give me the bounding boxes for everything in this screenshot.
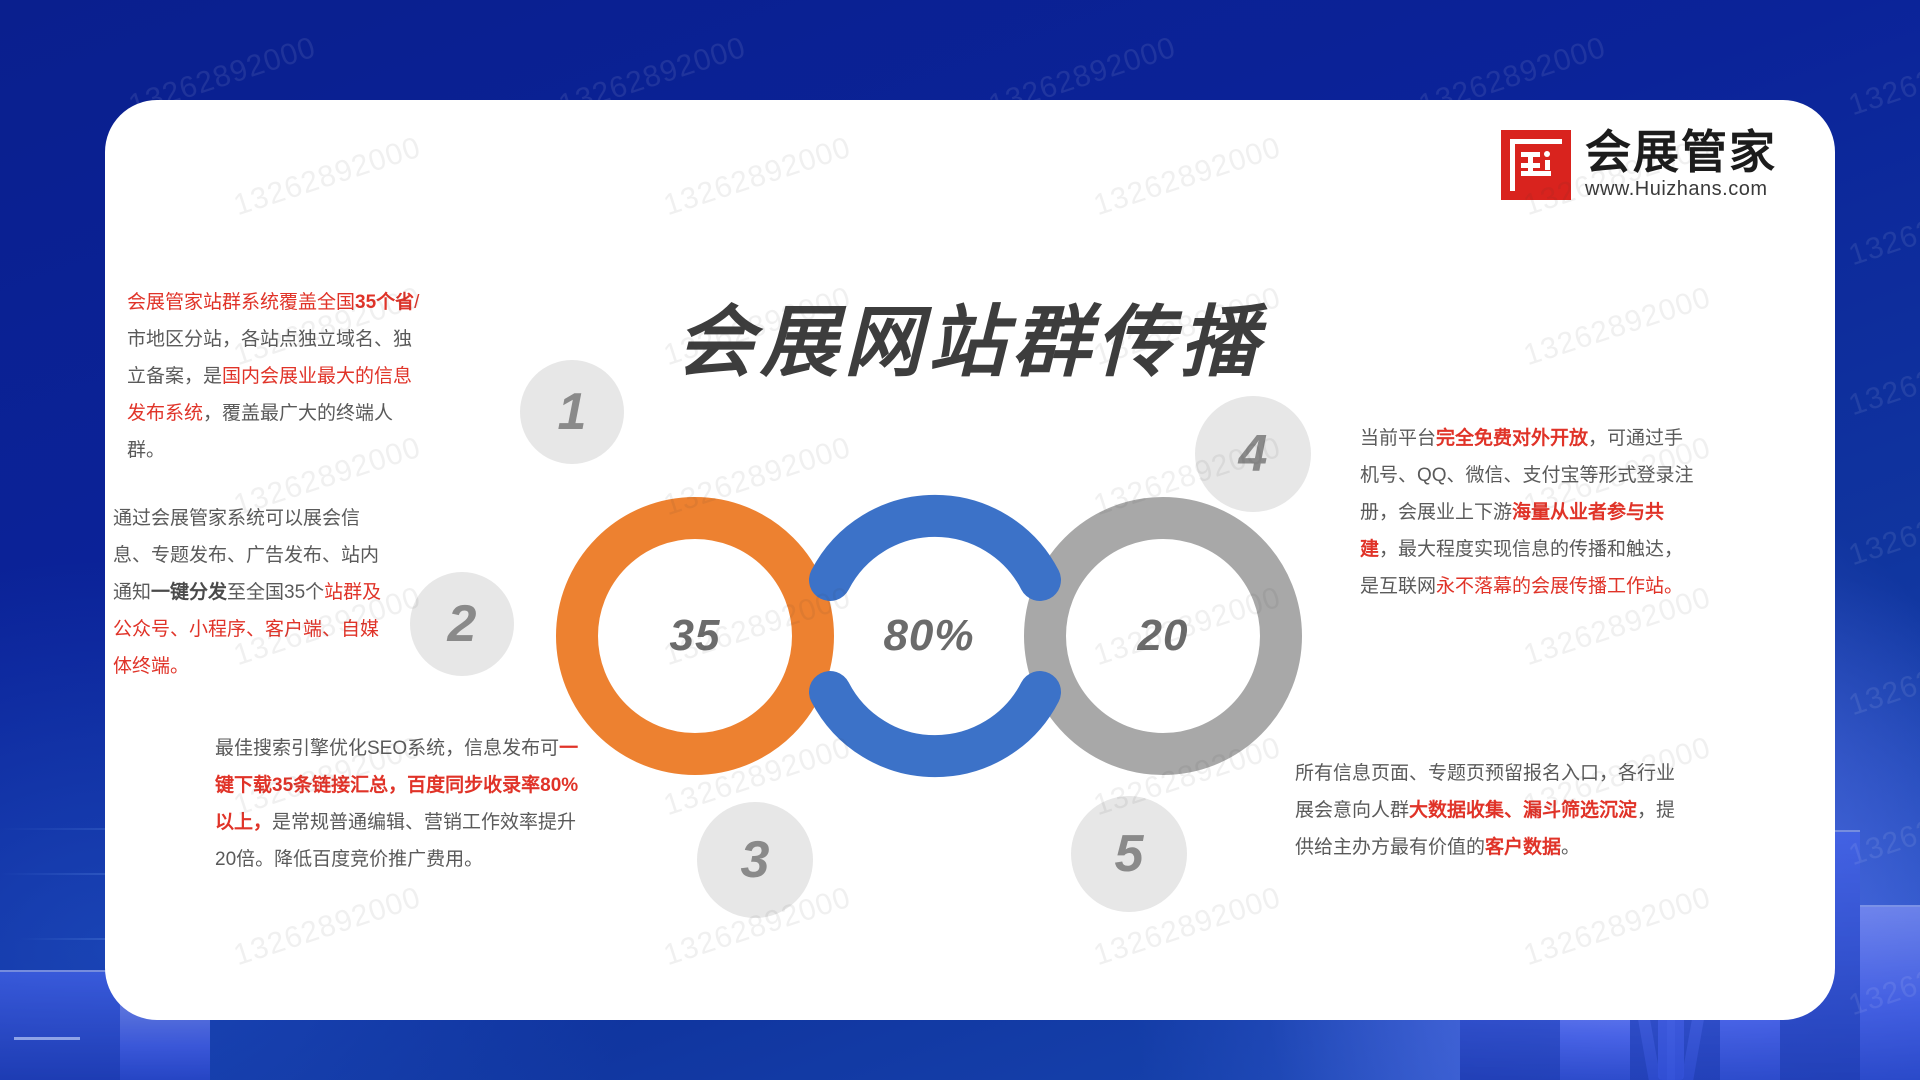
- feature-text-2: 通过会展管家系统可以展会信息、专题发布、广告发布、站内通知一键分发至全国35个站…: [113, 500, 383, 685]
- text-run: 会展管家站群系统覆盖全国: [127, 292, 355, 313]
- badge-4[interactable]: 4: [1195, 396, 1311, 512]
- badge-3[interactable]: 3: [697, 802, 813, 918]
- brand-logo: 会展管家 www.Huizhans.com: [1501, 128, 1777, 201]
- building: [1860, 905, 1920, 1080]
- badge-5[interactable]: 5: [1071, 796, 1187, 912]
- feature-text-5: 所有信息页面、专题页预留报名入口，各行业展会意向人群大数据收集、漏斗筛选沉淀，提…: [1295, 755, 1685, 866]
- text-run: 至全国35个: [227, 582, 324, 603]
- building: [0, 970, 120, 1080]
- feature-text-3: 最佳搜索引擎优化SEO系统，信息发布可一键下载35条链接汇总，百度同步收录率80…: [215, 730, 585, 878]
- ring-blue-top: [830, 516, 1040, 580]
- badge-2[interactable]: 2: [410, 572, 514, 676]
- ring-value-1: 35: [670, 611, 721, 661]
- text-run: 永不落幕的会展传播工作站。: [1436, 576, 1683, 597]
- text-run: 当前平台: [1360, 428, 1436, 449]
- watermark-text: 13262892000: [1090, 131, 1286, 223]
- ring-value-3: 20: [1138, 611, 1189, 661]
- watermark-text: 13262892000: [1520, 881, 1716, 973]
- logo-url: www.Huizhans.com: [1585, 178, 1768, 201]
- text-run: 一键分发: [151, 582, 227, 603]
- watermark-text: 13262892000: [660, 131, 856, 223]
- text-run: 35个省: [355, 292, 414, 313]
- badge-1[interactable]: 1: [520, 360, 624, 464]
- text-run: 客户数据: [1485, 837, 1561, 858]
- ring-blue-bottom: [830, 692, 1040, 756]
- text-run: 大数据收集、漏斗筛选沉淀: [1409, 800, 1637, 821]
- text-run: 完全免费对外开放: [1436, 428, 1588, 449]
- huizhans-mark-icon: [1501, 130, 1571, 200]
- watermark-text: 13262892000: [230, 131, 426, 223]
- text-run: 最佳搜索引擎优化SEO系统，信息发布可: [215, 738, 559, 759]
- content-card: 会展管家 www.Huizhans.com 会展网站群传播 35 80% 20 …: [105, 100, 1835, 1020]
- logo-name: 会展管家: [1585, 128, 1777, 176]
- feature-text-4: 当前平台完全免费对外开放，可通过手机号、QQ、微信、支付宝等形式登录注册，会展业…: [1360, 420, 1700, 605]
- watermark-text: 13262892000: [230, 881, 426, 973]
- text-run: /: [414, 292, 419, 313]
- text-run: 。: [1561, 837, 1580, 858]
- ring-value-2: 80%: [883, 611, 974, 661]
- ring-diagram: 35 80% 20: [535, 470, 1325, 800]
- feature-text-1: 会展管家站群系统覆盖全国35个省/市地区分站，各站点独立域名、独立备案，是国内会…: [127, 284, 427, 469]
